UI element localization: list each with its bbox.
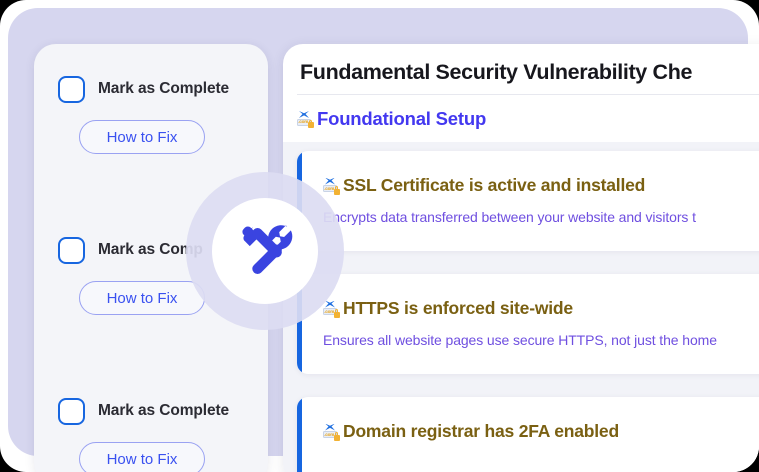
section-heading-label: Foundational Setup [317, 108, 486, 130]
how-to-fix-button[interactable]: How to Fix [79, 120, 205, 154]
mark-complete-row[interactable]: Mark as Complete [34, 72, 268, 106]
checklist-item-title-row: .com Domain registrar has 2FA enabled [323, 421, 619, 442]
checklist-item-title: Domain registrar has 2FA enabled [343, 421, 619, 442]
task-item: Mark as Complete How to Fix [34, 72, 268, 154]
domain-lock-icon: .com [297, 111, 313, 127]
rounded-mask: Mark as Complete How to Fix Mark as Comp… [0, 0, 759, 472]
item-accent-bar [297, 397, 302, 472]
section-heading: .com Foundational Setup [297, 108, 486, 130]
mark-complete-checkbox[interactable] [58, 76, 85, 103]
checklist-item-description: Encrypts data transferred between your w… [323, 209, 696, 225]
mark-complete-label: Mark as Complete [98, 80, 229, 98]
checklist-item[interactable]: .com SSL Certificate is active and insta… [297, 151, 759, 251]
checklist-items: .com SSL Certificate is active and insta… [283, 142, 759, 472]
domain-lock-icon: .com [323, 301, 339, 317]
checklist-item-title: HTTPS is enforced site-wide [343, 298, 573, 319]
tools-wrench-screwdriver-icon [234, 220, 296, 282]
checklist-item[interactable]: .com HTTPS is enforced site-wide Ensures… [297, 274, 759, 374]
checklist-item-description: Ensures all website pages use secure HTT… [323, 332, 717, 348]
mark-complete-label: Mark as Complete [98, 402, 229, 420]
title-divider [297, 94, 759, 95]
checklist-item[interactable]: .com Domain registrar has 2FA enabled [297, 397, 759, 472]
how-to-fix-button[interactable]: How to Fix [79, 281, 205, 315]
checklist-item-title-row: .com SSL Certificate is active and insta… [323, 175, 645, 196]
screenshot-stage: Mark as Complete How to Fix Mark as Comp… [0, 0, 759, 472]
checklist-item-title: SSL Certificate is active and installed [343, 175, 645, 196]
page-title: Fundamental Security Vulnerability Che [300, 60, 692, 85]
mark-complete-checkbox[interactable] [58, 398, 85, 425]
mark-complete-checkbox[interactable] [58, 237, 85, 264]
domain-lock-icon: .com [323, 178, 339, 194]
mark-complete-row[interactable]: Mark as Complete [34, 394, 268, 428]
domain-lock-icon: .com [323, 424, 339, 440]
checklist-panel: Fundamental Security Vulnerability Che .… [283, 44, 759, 472]
how-to-fix-button[interactable]: How to Fix [79, 442, 205, 472]
checklist-item-title-row: .com HTTPS is enforced site-wide [323, 298, 573, 319]
tool-badge [212, 198, 318, 304]
task-item: Mark as Complete How to Fix [34, 394, 268, 472]
